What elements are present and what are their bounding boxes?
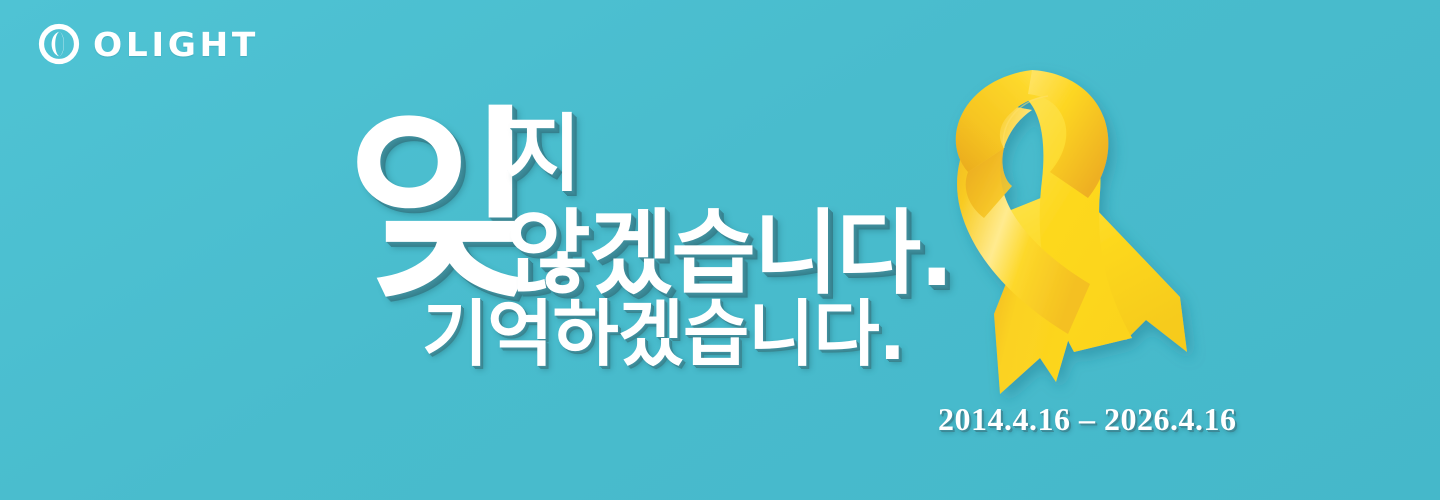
memorial-banner: OLIGHT 잊 지 않겠습니다. 기억하겠습니다. bbox=[0, 0, 1440, 500]
brand-logo[interactable]: OLIGHT bbox=[38, 22, 253, 66]
memorial-date-range: 2014.4.16 – 2026.4.16 bbox=[938, 401, 1237, 438]
headline-big-syllable: 잊 bbox=[346, 104, 528, 310]
headline-line-1: 않겠습니다. bbox=[506, 208, 952, 300]
headline-line-2: 기억하겠습니다. bbox=[422, 298, 905, 370]
yellow-awareness-ribbon-icon bbox=[908, 52, 1208, 402]
headline-block: 잊 지 않겠습니다. 기억하겠습니다. bbox=[346, 104, 906, 374]
olight-crescent-logo-icon bbox=[38, 23, 80, 65]
headline-small-syllable: 지 bbox=[504, 112, 581, 196]
brand-wordmark: OLIGHT bbox=[93, 28, 259, 61]
